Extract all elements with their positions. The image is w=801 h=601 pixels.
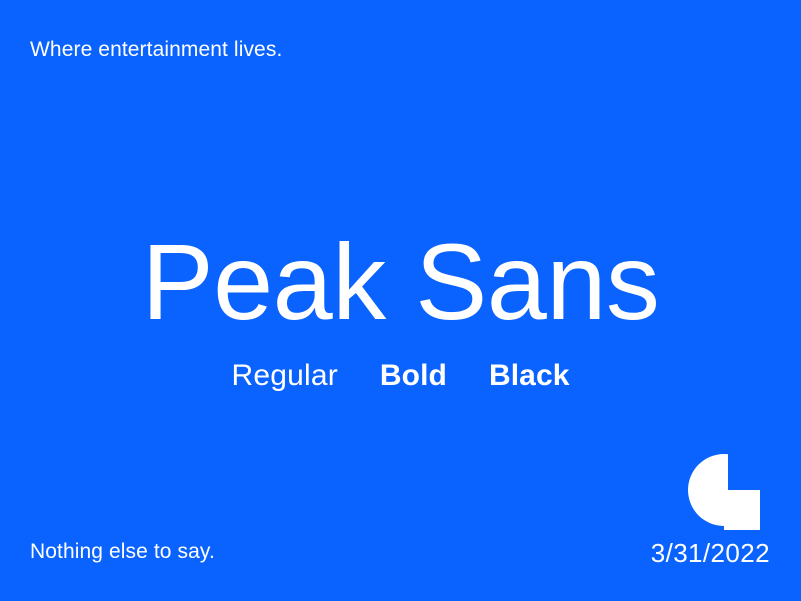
weight-sample-regular: Regular	[231, 361, 337, 391]
weight-sample-black: Black	[489, 361, 570, 391]
tagline: Where entertainment lives.	[30, 38, 282, 62]
type-specimen-card: Where entertainment lives. Peak Sans Reg…	[0, 0, 801, 601]
footer-note: Nothing else to say.	[30, 540, 215, 564]
footer-date: 3/31/2022	[651, 538, 770, 569]
weight-list: Regular Bold Black	[0, 361, 801, 391]
page-title: Peak Sans	[0, 228, 801, 336]
weight-sample-bold: Bold	[380, 361, 447, 391]
circle-g-monogram-icon	[688, 450, 760, 530]
